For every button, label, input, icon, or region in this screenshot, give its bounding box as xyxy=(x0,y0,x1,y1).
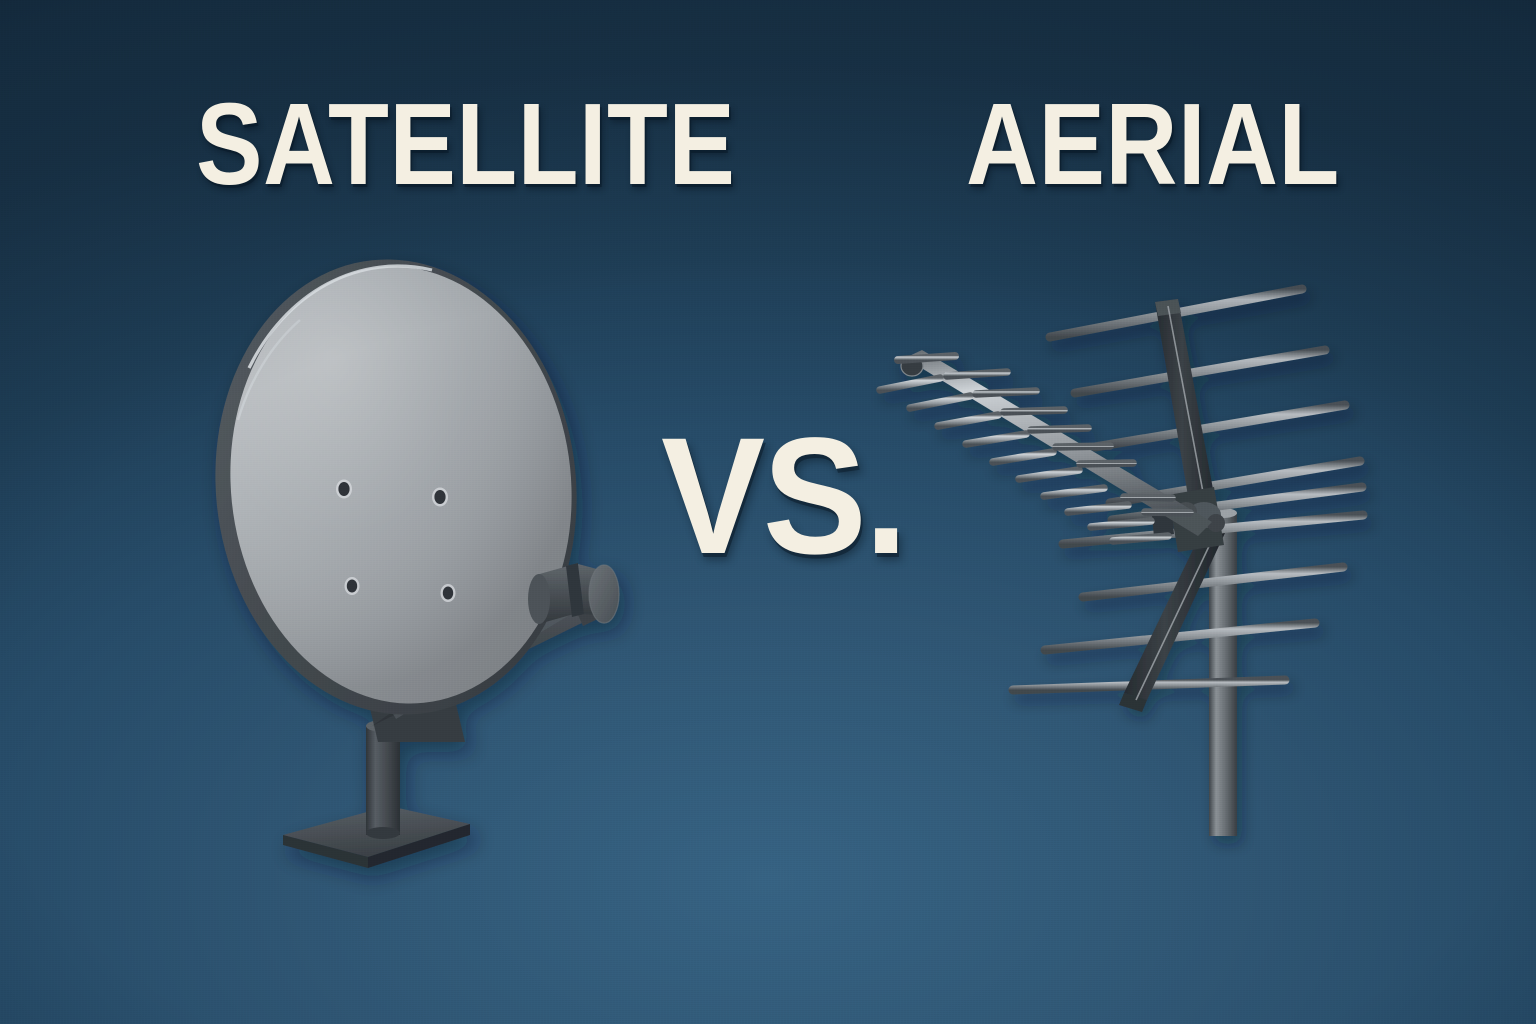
page-title-satellite: SATELLITE xyxy=(196,86,735,202)
page-title-aerial: AERIAL xyxy=(966,86,1340,202)
poster-canvas: SATELLITE AERIAL VS. xyxy=(0,0,1536,1024)
versus-label: VS. xyxy=(661,414,905,580)
